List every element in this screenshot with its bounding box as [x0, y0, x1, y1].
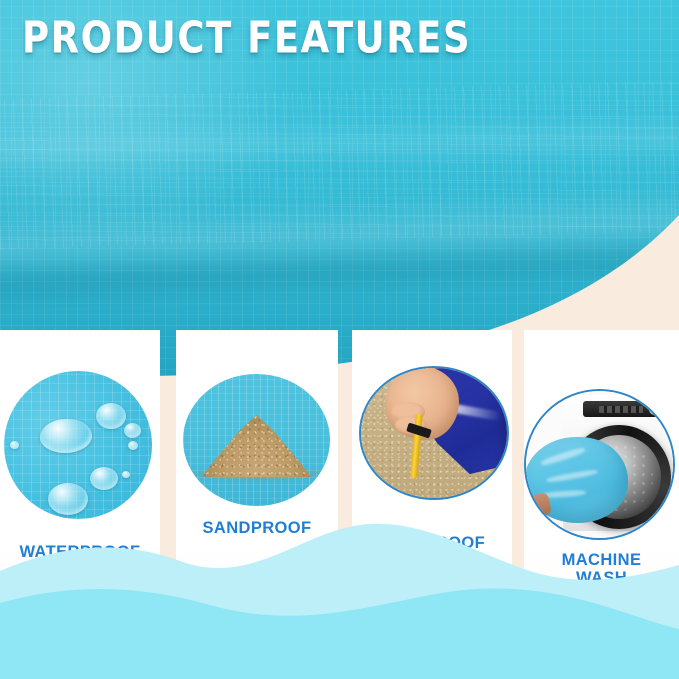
- bottom-waves: [0, 499, 679, 679]
- waterproof-photo: [4, 371, 152, 519]
- product-features-banner: PRODUCT FEATURES WATERPROOF: [0, 0, 679, 679]
- windproof-photo: [359, 366, 509, 500]
- sandproof-photo: [183, 374, 330, 506]
